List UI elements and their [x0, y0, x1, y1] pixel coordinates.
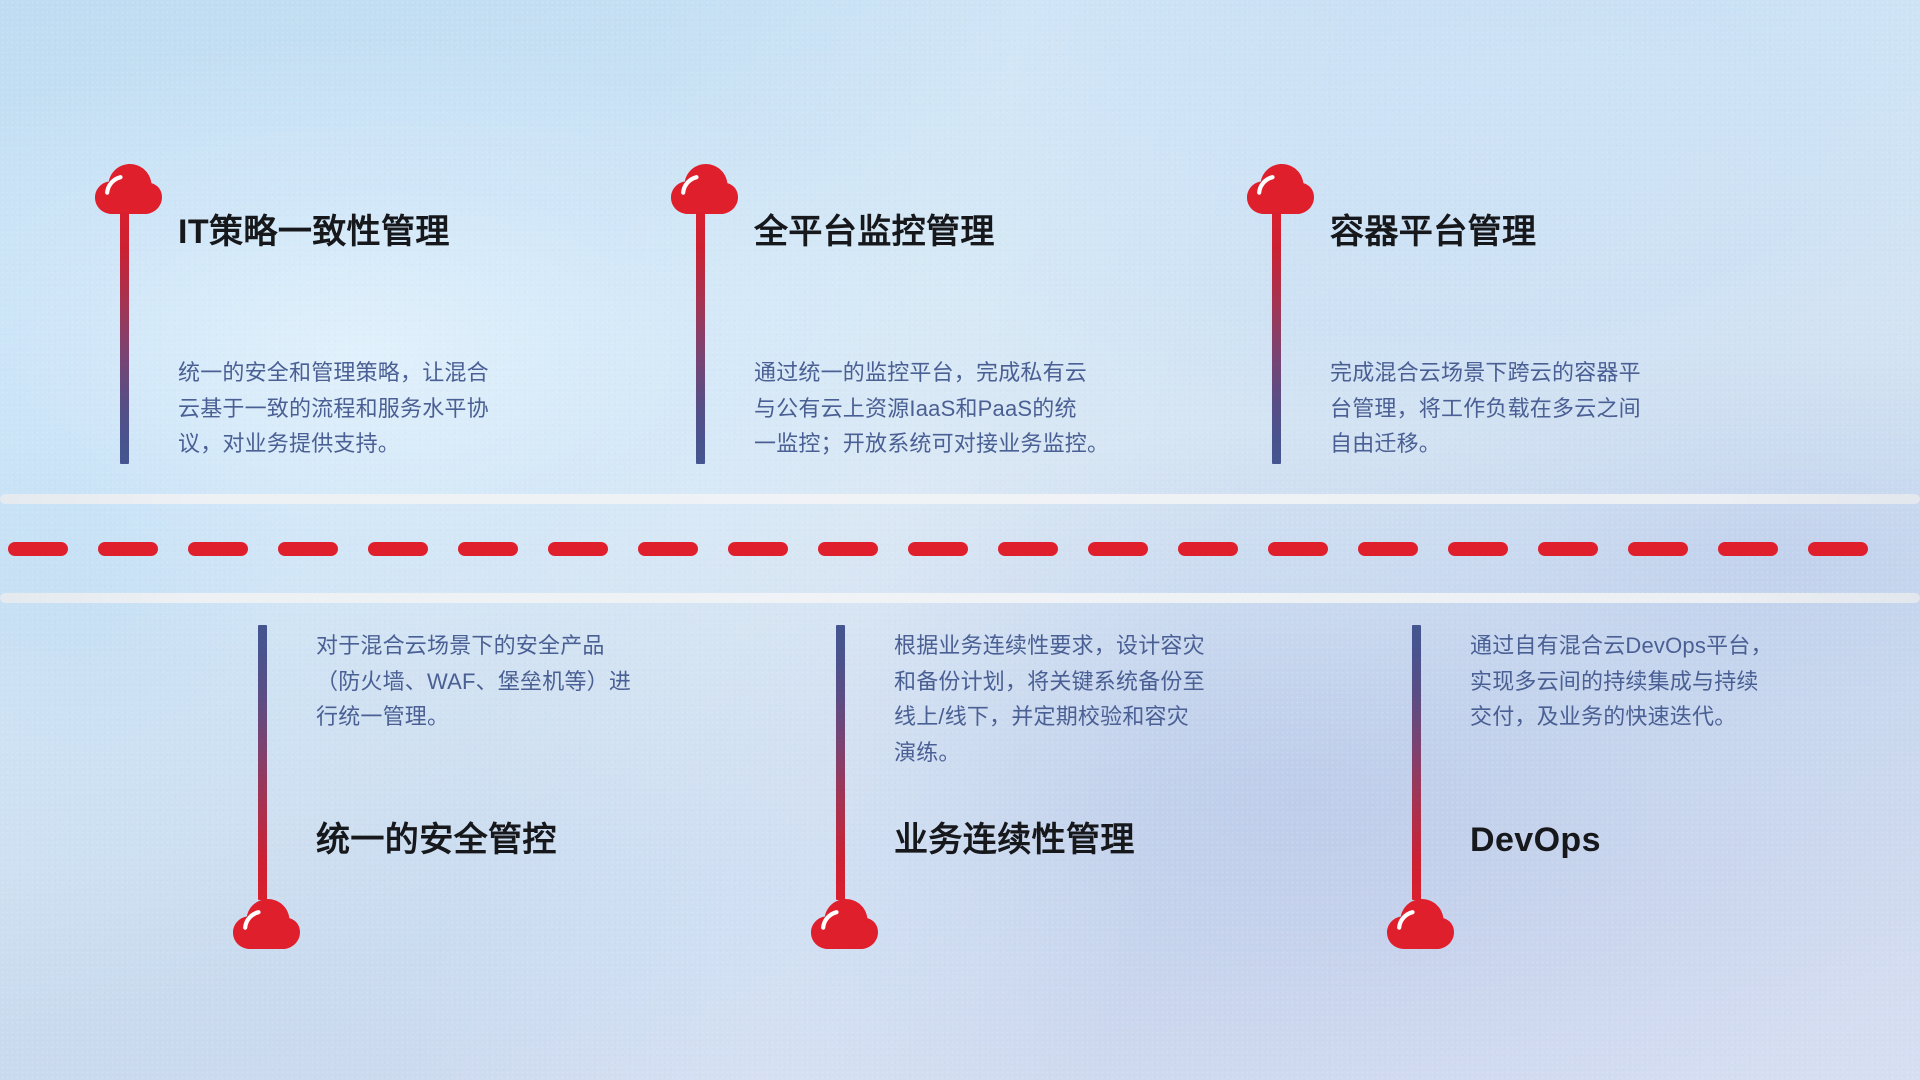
- road-dash: [818, 542, 878, 556]
- card-body-line: 通过统一的监控平台，完成私有云: [754, 355, 1194, 391]
- cloud-pin-icon: [808, 895, 880, 951]
- road-dash: [1538, 542, 1598, 556]
- road-dash: [548, 542, 608, 556]
- card-body: 通过统一的监控平台，完成私有云 与公有云上资源IaaS和PaaS的统 一监控；开…: [754, 355, 1194, 462]
- road-dash: [638, 542, 698, 556]
- road-dash: [1358, 542, 1418, 556]
- cloud-pin-icon: [92, 160, 164, 216]
- card-title: 容器平台管理: [1330, 212, 1536, 253]
- road-dash: [1178, 542, 1238, 556]
- cloud-pin-icon: [1244, 160, 1316, 216]
- card-title: DevOps: [1470, 820, 1601, 861]
- card-body-line: 统一的安全和管理策略，让混合: [178, 355, 618, 391]
- road-dash: [368, 542, 428, 556]
- road-dash: [998, 542, 1058, 556]
- card-body-line: 线上/线下，并定期校验和容灾: [894, 699, 1334, 735]
- road-dash: [188, 542, 248, 556]
- card-body: 统一的安全和管理策略，让混合 云基于一致的流程和服务水平协 议，对业务提供支持。: [178, 355, 618, 462]
- card-body-line: 根据业务连续性要求，设计容灾: [894, 628, 1334, 664]
- road-dash: [1808, 542, 1868, 556]
- road-dash: [8, 542, 68, 556]
- card-body-line: 完成混合云场景下跨云的容器平: [1330, 355, 1770, 391]
- cloud-pin-icon: [668, 160, 740, 216]
- road-dash: [1718, 542, 1778, 556]
- card-body: 通过自有混合云DevOps平台， 实现多云间的持续集成与持续 交付，及业务的快速…: [1470, 628, 1910, 735]
- card-body: 对于混合云场景下的安全产品 （防火墙、WAF、堡垒机等）进 行统一管理。: [316, 628, 756, 735]
- card-body-line: 通过自有混合云DevOps平台，: [1470, 628, 1910, 664]
- card-title: 业务连续性管理: [894, 820, 1135, 861]
- card-title: IT策略一致性管理: [178, 212, 450, 253]
- pin-stem: [1412, 625, 1421, 900]
- card-title: 统一的安全管控: [316, 820, 557, 861]
- road-edge-line-bottom: [0, 593, 1920, 603]
- road-dash: [458, 542, 518, 556]
- road-dash: [1628, 542, 1688, 556]
- road-dash: [1088, 542, 1148, 556]
- cloud-pin-icon: [230, 895, 302, 951]
- road-dash: [728, 542, 788, 556]
- card-body-line: 行统一管理。: [316, 699, 756, 735]
- card-body-line: 和备份计划，将关键系统备份至: [894, 664, 1334, 700]
- road-dash: [1268, 542, 1328, 556]
- card-body-line: 云基于一致的流程和服务水平协: [178, 391, 618, 427]
- cloud-pin-icon: [1384, 895, 1456, 951]
- road-dash: [278, 542, 338, 556]
- pin-stem: [258, 625, 267, 900]
- card-body-line: 与公有云上资源IaaS和PaaS的统: [754, 391, 1194, 427]
- card-body-line: 一监控；开放系统可对接业务监控。: [754, 426, 1194, 462]
- card-body-line: 议，对业务提供支持。: [178, 426, 618, 462]
- road-edge-line-top: [0, 494, 1920, 504]
- road-dashed-center-line: [0, 542, 1920, 556]
- pin-stem: [1272, 212, 1281, 464]
- card-body-line: 对于混合云场景下的安全产品: [316, 628, 756, 664]
- card-body-line: 交付，及业务的快速迭代。: [1470, 699, 1910, 735]
- road-dash: [98, 542, 158, 556]
- pin-stem: [836, 625, 845, 900]
- card-title: 全平台监控管理: [754, 212, 995, 253]
- pin-stem: [120, 212, 129, 464]
- road-dash: [1448, 542, 1508, 556]
- card-body-line: 演练。: [894, 735, 1334, 771]
- card-body-line: 自由迁移。: [1330, 426, 1770, 462]
- pin-stem: [696, 212, 705, 464]
- card-body: 完成混合云场景下跨云的容器平 台管理，将工作负载在多云之间 自由迁移。: [1330, 355, 1770, 462]
- road-dash: [908, 542, 968, 556]
- infographic-canvas: IT策略一致性管理 统一的安全和管理策略，让混合 云基于一致的流程和服务水平协 …: [0, 0, 1920, 1080]
- card-body-line: 台管理，将工作负载在多云之间: [1330, 391, 1770, 427]
- card-body-line: 实现多云间的持续集成与持续: [1470, 664, 1910, 700]
- card-body: 根据业务连续性要求，设计容灾 和备份计划，将关键系统备份至 线上/线下，并定期校…: [894, 628, 1334, 771]
- card-body-line: （防火墙、WAF、堡垒机等）进: [316, 664, 756, 700]
